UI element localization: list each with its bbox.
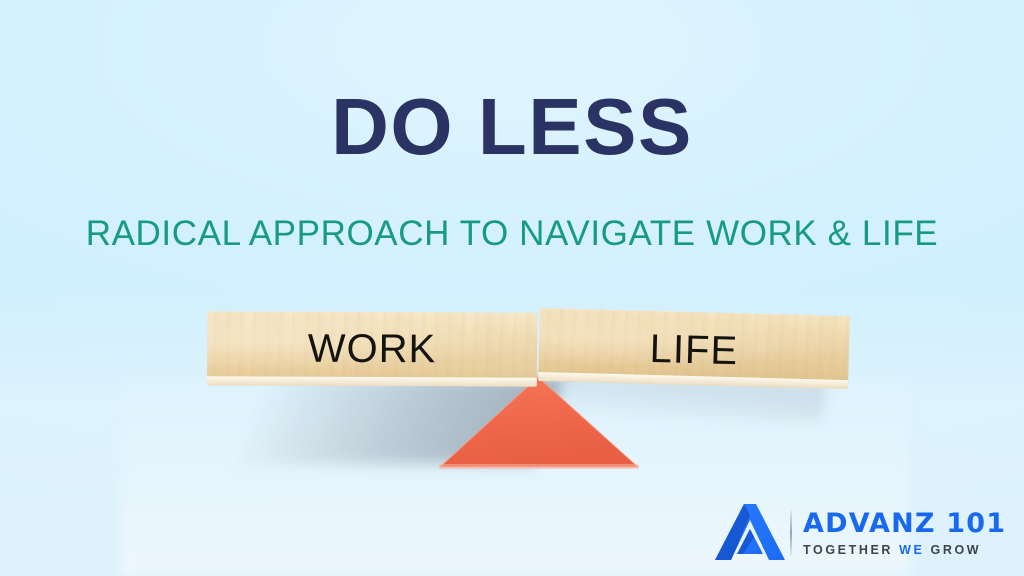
wood-block-label-work: WORK <box>207 328 537 369</box>
logo-tagline-after: GROW <box>924 543 981 557</box>
wood-block-work-edge <box>207 376 537 386</box>
brand-logo[interactable]: ADVANZ 101 TOGETHER WE GROW <box>713 500 1009 566</box>
slide-canvas: DO LESS RADICAL APPROACH TO NAVIGATE WOR… <box>0 0 1024 576</box>
fulcrum-triangle-icon <box>438 375 640 471</box>
logo-brand-name: ADVANZ 101 <box>803 509 1006 538</box>
advanz-a-logo-icon <box>713 502 787 564</box>
logo-tagline-before: TOGETHER <box>803 543 899 557</box>
page-subtitle: RADICAL APPROACH TO NAVIGATE WORK & LIFE <box>0 213 1024 255</box>
wood-block-life: LIFE <box>538 308 850 389</box>
page-title: DO LESS <box>0 82 1024 172</box>
logo-tagline-highlight: WE <box>899 543 924 557</box>
logo-divider <box>790 510 792 556</box>
wood-block-work: WORK <box>207 311 537 386</box>
logo-text-block: ADVANZ 101 TOGETHER WE GROW <box>803 509 1006 558</box>
wood-block-label-life: LIFE <box>538 326 849 374</box>
logo-tagline: TOGETHER WE GROW <box>803 542 1006 558</box>
